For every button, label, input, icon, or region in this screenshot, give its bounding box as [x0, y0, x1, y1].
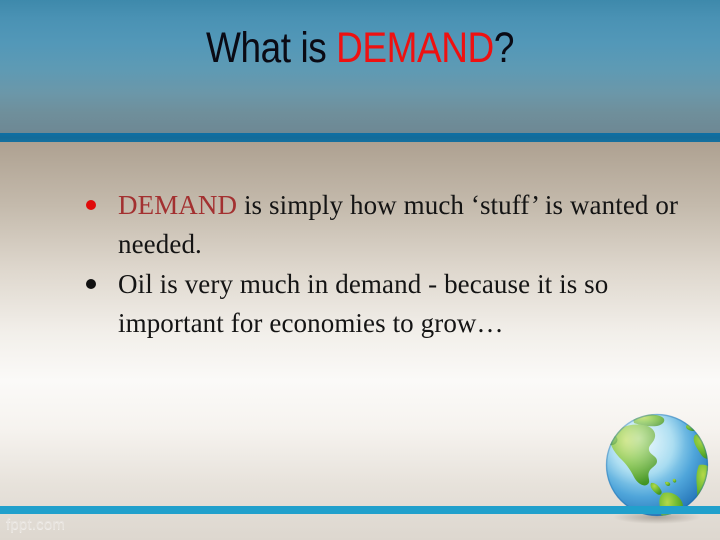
- page-title: What is DEMAND?: [50, 24, 669, 73]
- footer-watermark: fppt.com: [6, 516, 65, 534]
- page-title-suffix: ?: [494, 24, 514, 72]
- list-item-body: Oil is very much in demand - because it …: [118, 269, 608, 338]
- list-item-text: DEMAND is simply how much ‘stuff’ is wan…: [118, 186, 720, 264]
- list-item-highlight: DEMAND: [118, 190, 237, 220]
- bullet-marker-icon: [86, 200, 96, 210]
- bullet-list: DEMAND is simply how much ‘stuff’ is wan…: [0, 142, 720, 343]
- list-item: Oil is very much in demand - because it …: [0, 265, 720, 343]
- list-item: DEMAND is simply how much ‘stuff’ is wan…: [0, 186, 720, 264]
- page-title-highlight: DEMAND: [336, 24, 494, 72]
- bullet-marker-icon: [86, 279, 96, 289]
- slide-header-band: What is DEMAND?: [0, 0, 720, 133]
- header-divider-rule: [0, 133, 720, 142]
- page-title-prefix: What is: [206, 24, 336, 72]
- list-item-text: Oil is very much in demand - because it …: [118, 265, 720, 343]
- footer-divider-rule: [0, 506, 720, 514]
- slide-canvas: What is DEMAND? DEMAND is simply how muc…: [0, 0, 720, 540]
